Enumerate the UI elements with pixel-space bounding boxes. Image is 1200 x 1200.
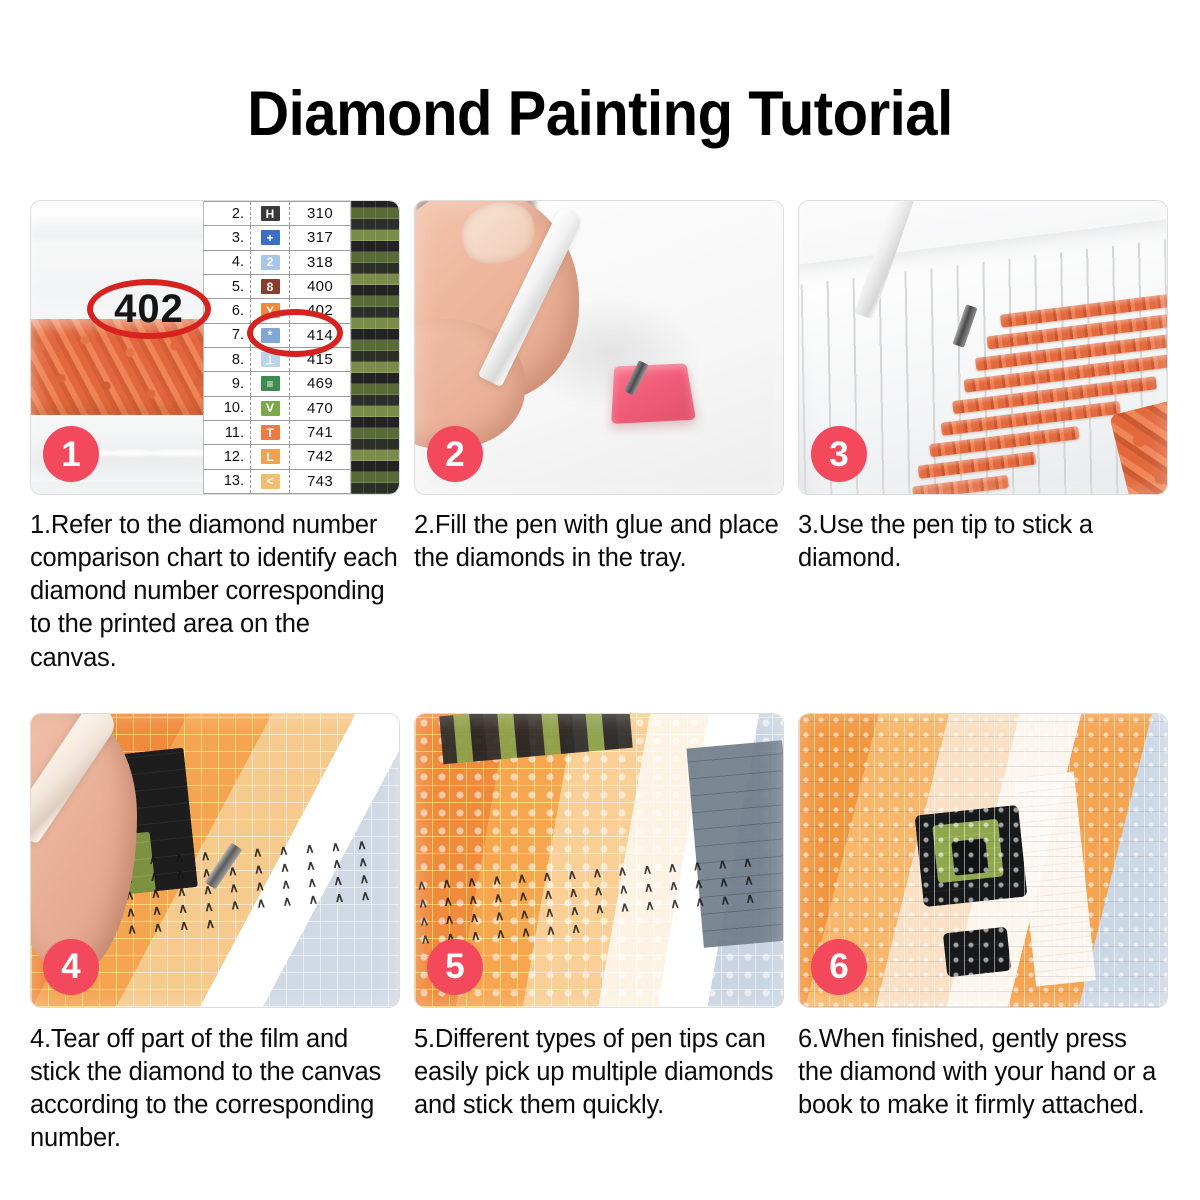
- step-badge-4: 4: [43, 939, 99, 995]
- chart-index: 2.: [204, 206, 250, 222]
- symbol-L-icon: L: [261, 449, 280, 464]
- chart-index: 10.: [204, 400, 250, 416]
- step-caption-4: 4.Tear off part of the film and stick th…: [30, 1023, 400, 1156]
- symbol-T-icon: T: [261, 425, 280, 440]
- chart-symbol-cell: <: [250, 470, 290, 493]
- chart-row: 11. T 741: [204, 421, 350, 445]
- page-title: Diamond Painting Tutorial: [48, 78, 1152, 150]
- chart-row: 5. 8 400: [204, 275, 350, 299]
- step-card-5: ∧ ∧ ∧ ∧ ∧ ∧ ∧ ∧ ∧ ∧ ∧ ∧ ∧ ∧ ∧ ∧ ∧ ∧ ∧ ∧ …: [414, 713, 784, 1156]
- chart-index: 8.: [204, 352, 250, 368]
- step-badge-2: 2: [427, 426, 483, 482]
- chart-symbol-cell: T: [250, 421, 290, 444]
- symbol-V-icon: V: [261, 401, 280, 416]
- chart-symbol-cell: V: [250, 397, 290, 420]
- chart-index: 13.: [204, 473, 250, 489]
- chart-row: 2. H 310: [204, 201, 350, 226]
- step-badge-5: 5: [427, 939, 483, 995]
- chart-row: 12. L 742: [204, 445, 350, 469]
- chart-index: 3.: [204, 230, 250, 246]
- chart-dmc-number: 743: [290, 473, 350, 490]
- chart-symbol-cell: L: [250, 445, 290, 468]
- step-image-2: 2: [414, 200, 784, 495]
- chart-index: 12.: [204, 449, 250, 465]
- step-card-4: ∧ ∧ ∧ ∧ ∧ ∧ ∧ ∧ ∧ ∧ ∧ ∧ ∧ ∧ ∧ ∧ ∧ ∧ ∧ ∧ …: [30, 713, 400, 1156]
- steps-grid: 402 2. H 310 3. + 317: [30, 200, 1170, 1155]
- chart-dmc-number: 469: [290, 375, 350, 392]
- chart-dmc-number: 742: [290, 448, 350, 465]
- chart-row: 4. 2 318: [204, 251, 350, 275]
- symbol-equiv-icon: ≡: [261, 376, 280, 391]
- chart-row: 10. V 470: [204, 397, 350, 421]
- symbol-2-icon: 2: [261, 255, 280, 270]
- symbol-lt-icon: <: [261, 474, 280, 489]
- thumbnail: [454, 201, 543, 273]
- chart-index: 9.: [204, 376, 250, 392]
- chart-symbol-cell: 8: [250, 275, 290, 298]
- chart-dmc-number: 318: [290, 254, 350, 271]
- step-badge-6: 6: [811, 939, 867, 995]
- chart-symbol-cell: 2: [250, 251, 290, 274]
- step-badge-1: 1: [43, 426, 99, 482]
- step-image-1: 402 2. H 310 3. + 317: [30, 200, 400, 495]
- printed-canvas-symbols: ∧ ∧ ∧ ∧ ∧ ∧ ∧ ∧ ∧ ∧ ∧ ∧ ∧ ∧ ∧ ∧ ∧ ∧ ∧ ∧ …: [96, 833, 399, 1006]
- chart-symbol-cell: +: [250, 226, 290, 249]
- chart-symbol-cell: H: [250, 202, 290, 225]
- symbol-H-icon: H: [261, 206, 280, 221]
- step-card-1: 402 2. H 310 3. + 317: [30, 200, 400, 675]
- chart-dmc-number: 400: [290, 278, 350, 295]
- highlight-circle-chart-icon: [247, 309, 343, 357]
- chart-index: 11.: [204, 425, 250, 441]
- chart-dmc-number: 310: [290, 205, 350, 222]
- symbol-plus-icon: +: [261, 230, 280, 245]
- step-caption-2: 2.Fill the pen with glue and place the d…: [414, 509, 784, 575]
- canvas-strip: [351, 201, 399, 494]
- step-image-6: 6: [798, 713, 1168, 1008]
- chart-index: 4.: [204, 254, 250, 270]
- step-image-5: ∧ ∧ ∧ ∧ ∧ ∧ ∧ ∧ ∧ ∧ ∧ ∧ ∧ ∧ ∧ ∧ ∧ ∧ ∧ ∧ …: [414, 713, 784, 1008]
- step-image-3: 3: [798, 200, 1168, 495]
- bag-number-label: 402: [87, 279, 211, 339]
- tutorial-page: Diamond Painting Tutorial 402 2. H: [0, 0, 1200, 1200]
- step-caption-6: 6.When finished, gently press the diamon…: [798, 1023, 1168, 1122]
- pink-glue-wax: [611, 363, 696, 424]
- step-card-3: 3 3.Use the pen tip to stick a diamond.: [798, 200, 1168, 675]
- chart-row: 9. ≡ 469: [204, 372, 350, 396]
- chart-dmc-number: 741: [290, 424, 350, 441]
- chart-row: 13. < 743: [204, 470, 350, 494]
- step-badge-3: 3: [811, 426, 867, 482]
- diamond-rows: [907, 280, 1167, 494]
- symbol-8-icon: 8: [261, 279, 280, 294]
- chart-row: 3. + 317: [204, 226, 350, 250]
- chart-dmc-number: 470: [290, 400, 350, 417]
- step-caption-1: 1.Refer to the diamond number comparison…: [30, 509, 400, 675]
- step-card-2: 2 2.Fill the pen with glue and place the…: [414, 200, 784, 675]
- step-caption-5: 5.Different types of pen tips can easily…: [414, 1023, 784, 1122]
- step-caption-3: 3.Use the pen tip to stick a diamond.: [798, 509, 1168, 575]
- chart-symbol-cell: ≡: [250, 372, 290, 395]
- step-card-6: 6 6.When finished, gently press the diam…: [798, 713, 1168, 1156]
- step-image-4: ∧ ∧ ∧ ∧ ∧ ∧ ∧ ∧ ∧ ∧ ∧ ∧ ∧ ∧ ∧ ∧ ∧ ∧ ∧ ∧ …: [30, 713, 400, 1008]
- chart-dmc-number: 317: [290, 229, 350, 246]
